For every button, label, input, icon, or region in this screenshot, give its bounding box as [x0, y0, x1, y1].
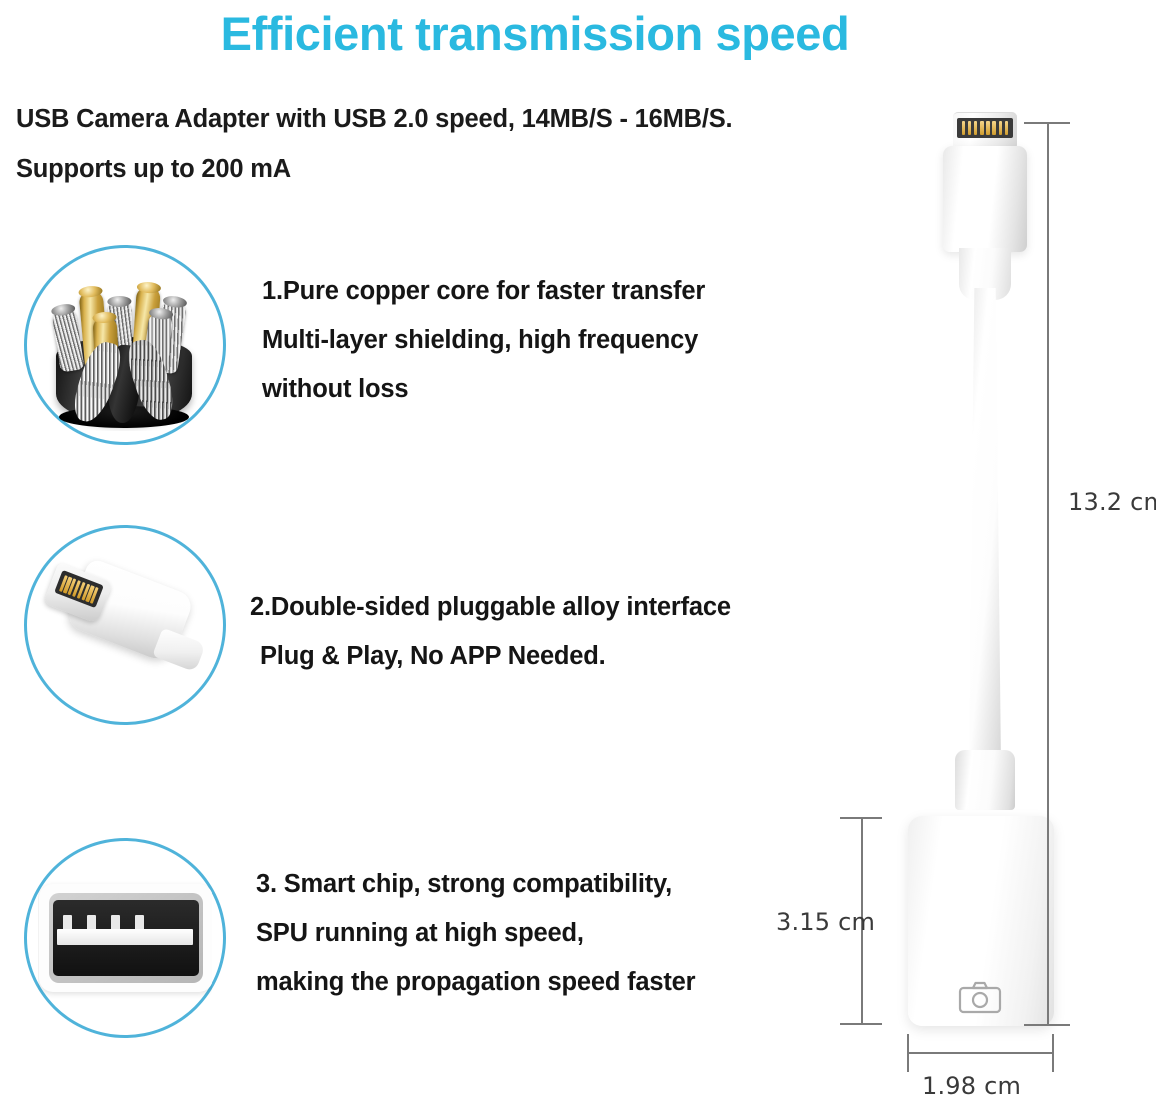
camera-icon — [958, 980, 1002, 1014]
feature-1-badge — [24, 245, 226, 445]
copper-wire-bundle-icon — [38, 259, 212, 431]
width-dimension-cap-right — [1052, 1034, 1054, 1072]
feature-1-line-3: without loss — [262, 365, 872, 414]
usb-adapter-body — [908, 816, 1054, 1026]
height-dimension-cap-bottom — [1024, 1024, 1070, 1026]
feature-1-line-2: Multi-layer shielding, high frequency — [262, 316, 872, 365]
width-dimension-label: 1.98 cm — [922, 1072, 1021, 1100]
feature-3-line-1: 3. Smart chip, strong compatibility, — [256, 860, 866, 909]
subtitle-line-1: USB Camera Adapter with USB 2.0 speed, 1… — [16, 105, 732, 134]
height-dimension-line — [1047, 123, 1049, 1025]
lightning-plug-pins — [957, 118, 1013, 138]
feature-2-line-1: 2.Double-sided pluggable alloy interface — [250, 583, 860, 632]
feature-3-badge — [24, 838, 226, 1038]
depth-dimension-cap-bottom — [840, 1023, 882, 1025]
height-dimension-label: 13.2 cm — [1068, 488, 1156, 516]
width-dimension-line — [908, 1052, 1054, 1054]
lightning-connector-icon — [38, 539, 212, 711]
feature-3-line-2: SPU running at high speed, — [256, 909, 866, 958]
feature-2-line-2: Plug & Play, No APP Needed. — [250, 632, 860, 681]
feature-2-text: 2.Double-sided pluggable alloy interface… — [250, 583, 860, 681]
lightning-plug-housing — [943, 146, 1027, 252]
lightning-plug-neck — [959, 248, 1011, 300]
feature-1-line-1: 1.Pure copper core for faster transfer — [262, 267, 872, 316]
adapter-cable — [966, 288, 1004, 762]
page-title: Efficient transmission speed — [0, 6, 1070, 61]
infographic-page: Efficient transmission speed USB Camera … — [0, 0, 1156, 1108]
feature-3-line-3: making the propagation speed faster — [256, 958, 866, 1007]
feature-1-text: 1.Pure copper core for faster transfer M… — [262, 267, 872, 414]
cable-strain-relief — [955, 750, 1015, 810]
depth-dimension-label: 3.15 cm — [776, 908, 875, 936]
lightning-plug-tip — [953, 112, 1017, 148]
usb-a-port-icon — [38, 852, 212, 1024]
depth-dimension-cap-top — [840, 817, 882, 819]
width-dimension-cap-left — [907, 1034, 909, 1072]
subtitle-line-2: Supports up to 200 mA — [16, 155, 291, 184]
height-dimension-cap-top — [1024, 122, 1070, 124]
feature-2-badge — [24, 525, 226, 725]
feature-3-text: 3. Smart chip, strong compatibility, SPU… — [256, 860, 866, 1007]
